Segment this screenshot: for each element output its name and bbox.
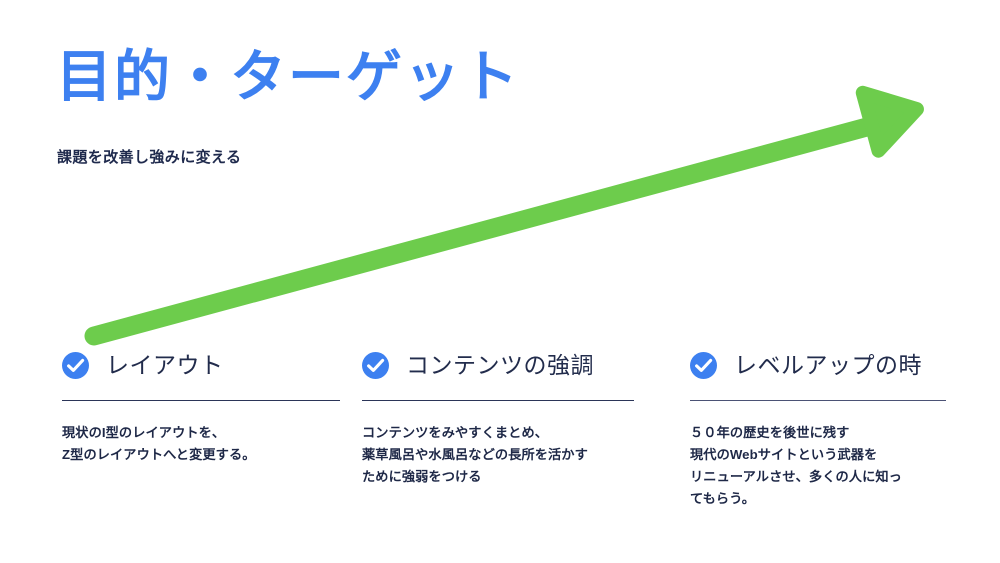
feature-header: コンテンツの強調 [362,348,634,382]
slide-canvas: 目的・ターゲット 課題を改善し強みに変える レイアウト 現状のI型のレイアウトを [0,0,1000,563]
feature-body: コンテンツをみやすくまとめ、 薬草風呂や水風呂などの長所を活かす ために強弱をつ… [362,422,634,488]
feature-column-1: レイアウト 現状のI型のレイアウトを、 Z型のレイアウトへと変更する。 [62,348,340,466]
body-line: ５０年の歴史を後世に残す [690,422,946,444]
feature-title: レイアウト [106,354,224,377]
section-divider [62,400,340,401]
check-circle-icon [62,352,89,379]
page-subtitle: 課題を改善し強みに変える [57,146,241,167]
body-line: 現代のWebサイトという武器を [690,444,946,466]
feature-header: レベルアップの時 [690,348,946,382]
check-circle-icon [690,352,717,379]
feature-body: 現状のI型のレイアウトを、 Z型のレイアウトへと変更する。 [62,422,340,466]
body-line: ために強弱をつける [362,466,634,488]
body-line: 現状のI型のレイアウトを、 [62,422,340,444]
feature-title: コンテンツの強調 [406,354,594,377]
feature-title: レベルアップの時 [734,354,922,377]
feature-column-3: レベルアップの時 ５０年の歴史を後世に残す 現代のWebサイトという武器を リニ… [690,348,946,510]
body-line: コンテンツをみやすくまとめ、 [362,422,634,444]
feature-body: ５０年の歴史を後世に残す 現代のWebサイトという武器を リニューアルさせ、多く… [690,422,946,510]
body-line: リニューアルさせ、多くの人に知っ [690,466,946,488]
page-title: 目的・ターゲット [56,46,520,109]
body-line: Z型のレイアウトへと変更する。 [62,444,340,466]
feature-header: レイアウト [62,348,340,382]
body-line: てもらう。 [690,488,946,510]
feature-column-2: コンテンツの強調 コンテンツをみやすくまとめ、 薬草風呂や水風呂などの長所を活か… [362,348,634,488]
body-line: 薬草風呂や水風呂などの長所を活かす [362,444,634,466]
arrow-head [863,80,925,150]
section-divider [690,400,946,401]
section-divider [362,400,634,401]
check-circle-icon [362,352,389,379]
